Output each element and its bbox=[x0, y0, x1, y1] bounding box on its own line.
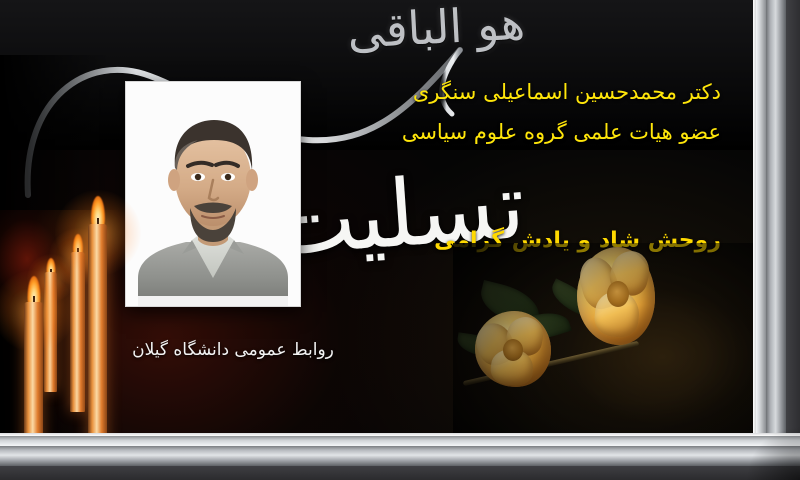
picture-frame bbox=[0, 0, 800, 480]
frame-right-highlight bbox=[753, 0, 756, 480]
frame-bottom-band bbox=[0, 446, 800, 466]
frame-bottom-bevel bbox=[0, 436, 800, 446]
frame-bottom-highlight bbox=[0, 433, 800, 436]
frame-right-band bbox=[766, 0, 786, 480]
frame-right-bevel bbox=[756, 0, 766, 480]
frame-corner-shadow bbox=[746, 426, 800, 480]
poster-canvas: هو الباقی تسلیت bbox=[0, 0, 800, 480]
